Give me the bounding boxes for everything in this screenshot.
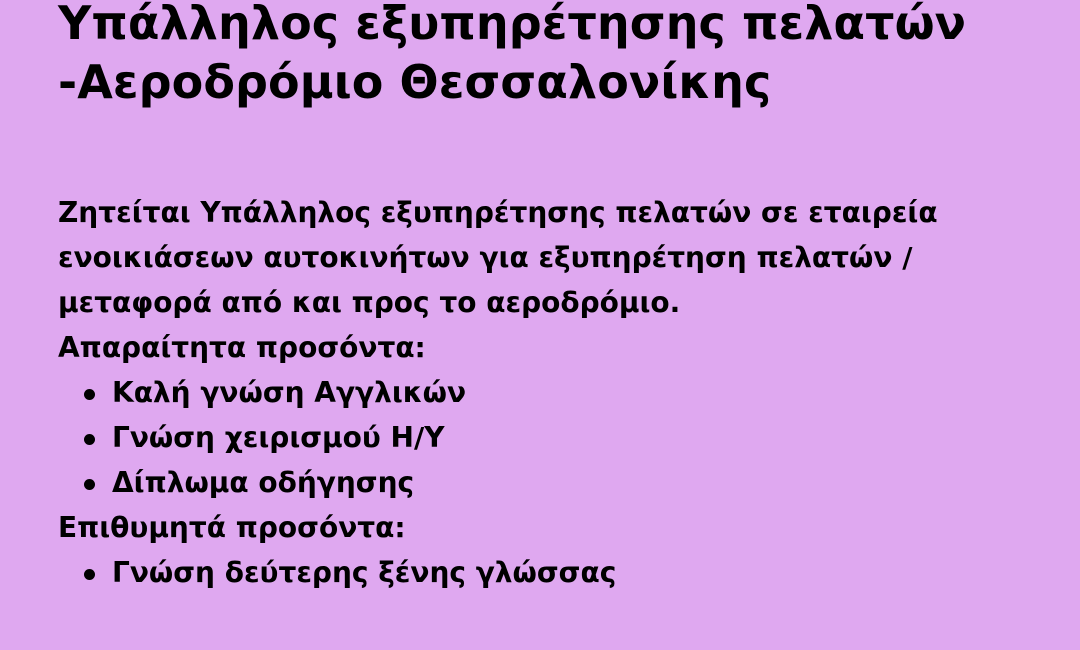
list-item-label: Γνώση χειρισμού Η/Υ	[112, 421, 445, 454]
list-item: Δίπλωμα οδήγησης	[58, 460, 1026, 505]
required-qualifications-list: Καλή γνώση Αγγλικών Γνώση χειρισμού Η/Υ …	[58, 370, 1026, 505]
list-item: Γνώση χειρισμού Η/Υ	[58, 415, 1026, 460]
list-item: Γνώση δεύτερης ξένης γλώσσας	[58, 550, 1026, 595]
list-item-label: Δίπλωμα οδήγησης	[112, 466, 414, 499]
list-item-label: Καλή γνώση Αγγλικών	[112, 376, 466, 409]
posting-intro-paragraph: Ζητείται Υπάλληλος εξυπηρέτησης πελατών …	[58, 190, 1026, 325]
bullet-icon	[84, 389, 95, 400]
bullet-icon	[84, 479, 95, 490]
desired-qualifications-list: Γνώση δεύτερης ξένης γλώσσας	[58, 550, 1026, 595]
bullet-icon	[84, 434, 95, 445]
page-title: Υπάλληλος εξυπηρέτησης πελατών -Αεροδρόμ…	[58, 0, 1018, 112]
list-item: Καλή γνώση Αγγλικών	[58, 370, 1026, 415]
list-item-label: Γνώση δεύτερης ξένης γλώσσας	[112, 556, 616, 589]
required-qualifications-heading: Απαραίτητα προσόντα:	[58, 325, 1026, 370]
desired-qualifications-heading: Επιθυμητά προσόντα:	[58, 505, 1026, 550]
bullet-icon	[84, 569, 95, 580]
posting-body: Ζητείται Υπάλληλος εξυπηρέτησης πελατών …	[58, 190, 1026, 595]
job-posting-page: Υπάλληλος εξυπηρέτησης πελατών -Αεροδρόμ…	[0, 0, 1080, 650]
